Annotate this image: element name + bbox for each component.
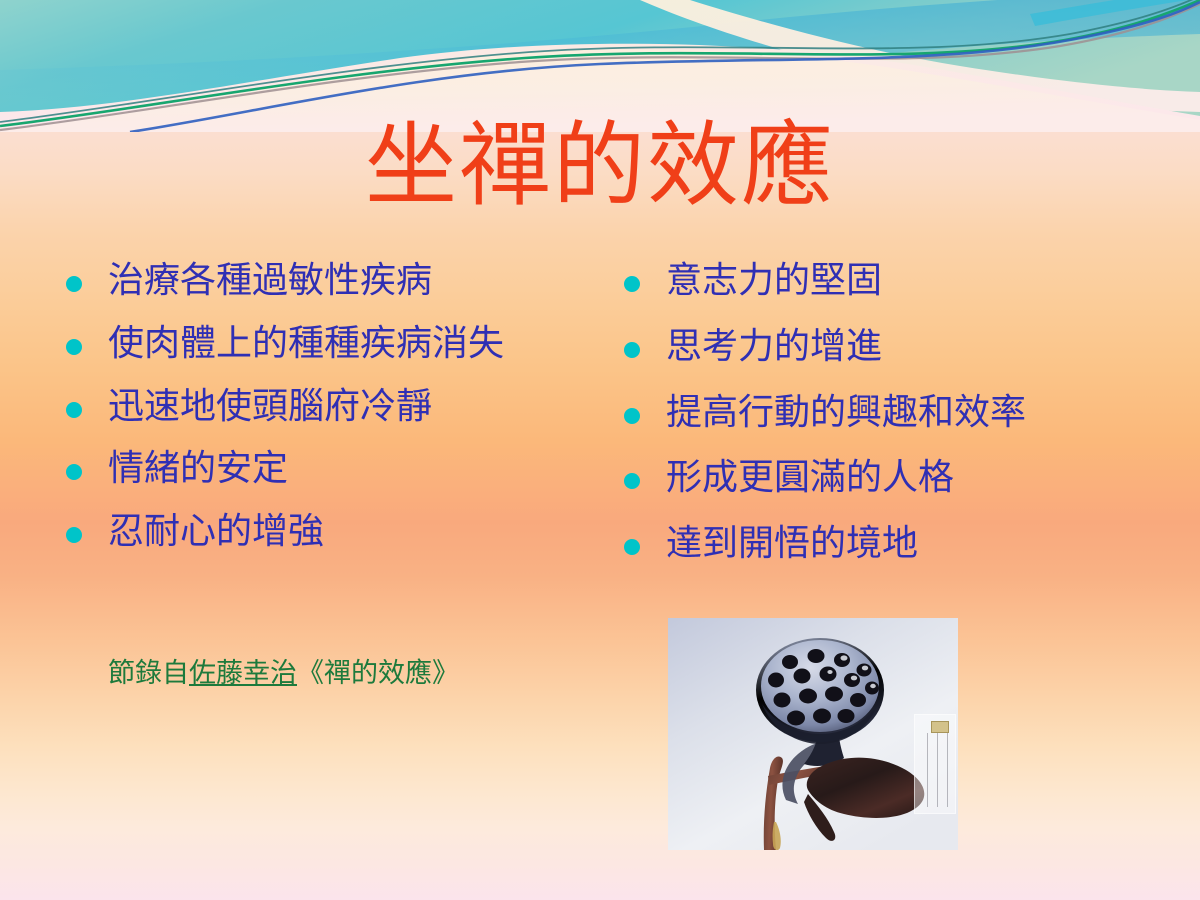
list-item: 意志力的堅固 — [620, 258, 1140, 305]
attribution-prefix: 節錄自 — [108, 658, 189, 689]
list-item-label: 忍耐心的增強 — [108, 511, 324, 552]
bullet-dot-icon — [624, 342, 640, 358]
right-bullet-list: 意志力的堅固 思考力的增進 提高行動的興趣和效率 形成更圓滿的人格 達到開悟的境… — [620, 258, 1140, 568]
list-item: 提高行動的興趣和效率 — [620, 390, 1140, 437]
list-item: 使肉體上的種種疾病消失 — [62, 321, 562, 368]
attribution-book-title: 《禪的效應》 — [297, 658, 459, 689]
list-item-label: 提高行動的興趣和效率 — [666, 392, 1026, 433]
bullet-dot-icon — [66, 402, 82, 418]
source-attribution: 節錄自佐藤幸治《禪的效應》 — [108, 658, 459, 690]
list-item-label: 情緒的安定 — [108, 448, 288, 489]
watermark-line — [947, 733, 948, 807]
list-item: 思考力的增進 — [620, 324, 1140, 371]
list-item-label: 使肉體上的種種疾病消失 — [108, 323, 504, 364]
list-item: 忍耐心的增強 — [62, 509, 562, 556]
watermark-chip-icon — [931, 721, 949, 733]
bullet-dot-icon — [66, 339, 82, 355]
list-item-label: 達到開悟的境地 — [666, 523, 918, 564]
watermark-line — [927, 733, 928, 807]
watermark-line — [937, 733, 938, 807]
list-item-label: 思考力的增進 — [666, 326, 882, 367]
right-bullet-column: 意志力的堅固 思考力的增進 提高行動的興趣和效率 形成更圓滿的人格 達到開悟的境… — [620, 258, 1140, 587]
bullet-dot-icon — [66, 464, 82, 480]
list-item-label: 迅速地使頭腦府冷靜 — [108, 386, 432, 427]
list-item: 情緒的安定 — [62, 446, 562, 493]
bullet-dot-icon — [66, 276, 82, 292]
bullet-dot-icon — [624, 539, 640, 555]
list-item: 迅速地使頭腦府冷靜 — [62, 384, 562, 431]
left-bullet-column: 治療各種過敏性疾病 使肉體上的種種疾病消失 迅速地使頭腦府冷靜 情緒的安定 忍耐… — [62, 258, 562, 572]
slide-title: 坐禪的效應 — [0, 118, 1200, 215]
photo-watermark-overlay — [914, 714, 956, 814]
lotus-pod-photo — [668, 618, 958, 850]
list-item: 形成更圓滿的人格 — [620, 455, 1140, 502]
bullet-dot-icon — [624, 473, 640, 489]
slide-body: 治療各種過敏性疾病 使肉體上的種種疾病消失 迅速地使頭腦府冷靜 情緒的安定 忍耐… — [0, 258, 1200, 678]
list-item-label: 形成更圓滿的人格 — [666, 457, 954, 498]
list-item-label: 意志力的堅固 — [666, 260, 882, 301]
list-item-label: 治療各種過敏性疾病 — [108, 260, 432, 301]
presentation-slide: 坐禪的效應 治療各種過敏性疾病 使肉體上的種種疾病消失 迅速地使頭腦府冷靜 — [0, 0, 1200, 900]
bullet-dot-icon — [624, 276, 640, 292]
bullet-dot-icon — [624, 408, 640, 424]
list-item: 治療各種過敏性疾病 — [62, 258, 562, 305]
left-bullet-list: 治療各種過敏性疾病 使肉體上的種種疾病消失 迅速地使頭腦府冷靜 情緒的安定 忍耐… — [62, 258, 562, 556]
list-item: 達到開悟的境地 — [620, 521, 1140, 568]
bullet-dot-icon — [66, 527, 82, 543]
attribution-author-link[interactable]: 佐藤幸治 — [189, 658, 297, 689]
